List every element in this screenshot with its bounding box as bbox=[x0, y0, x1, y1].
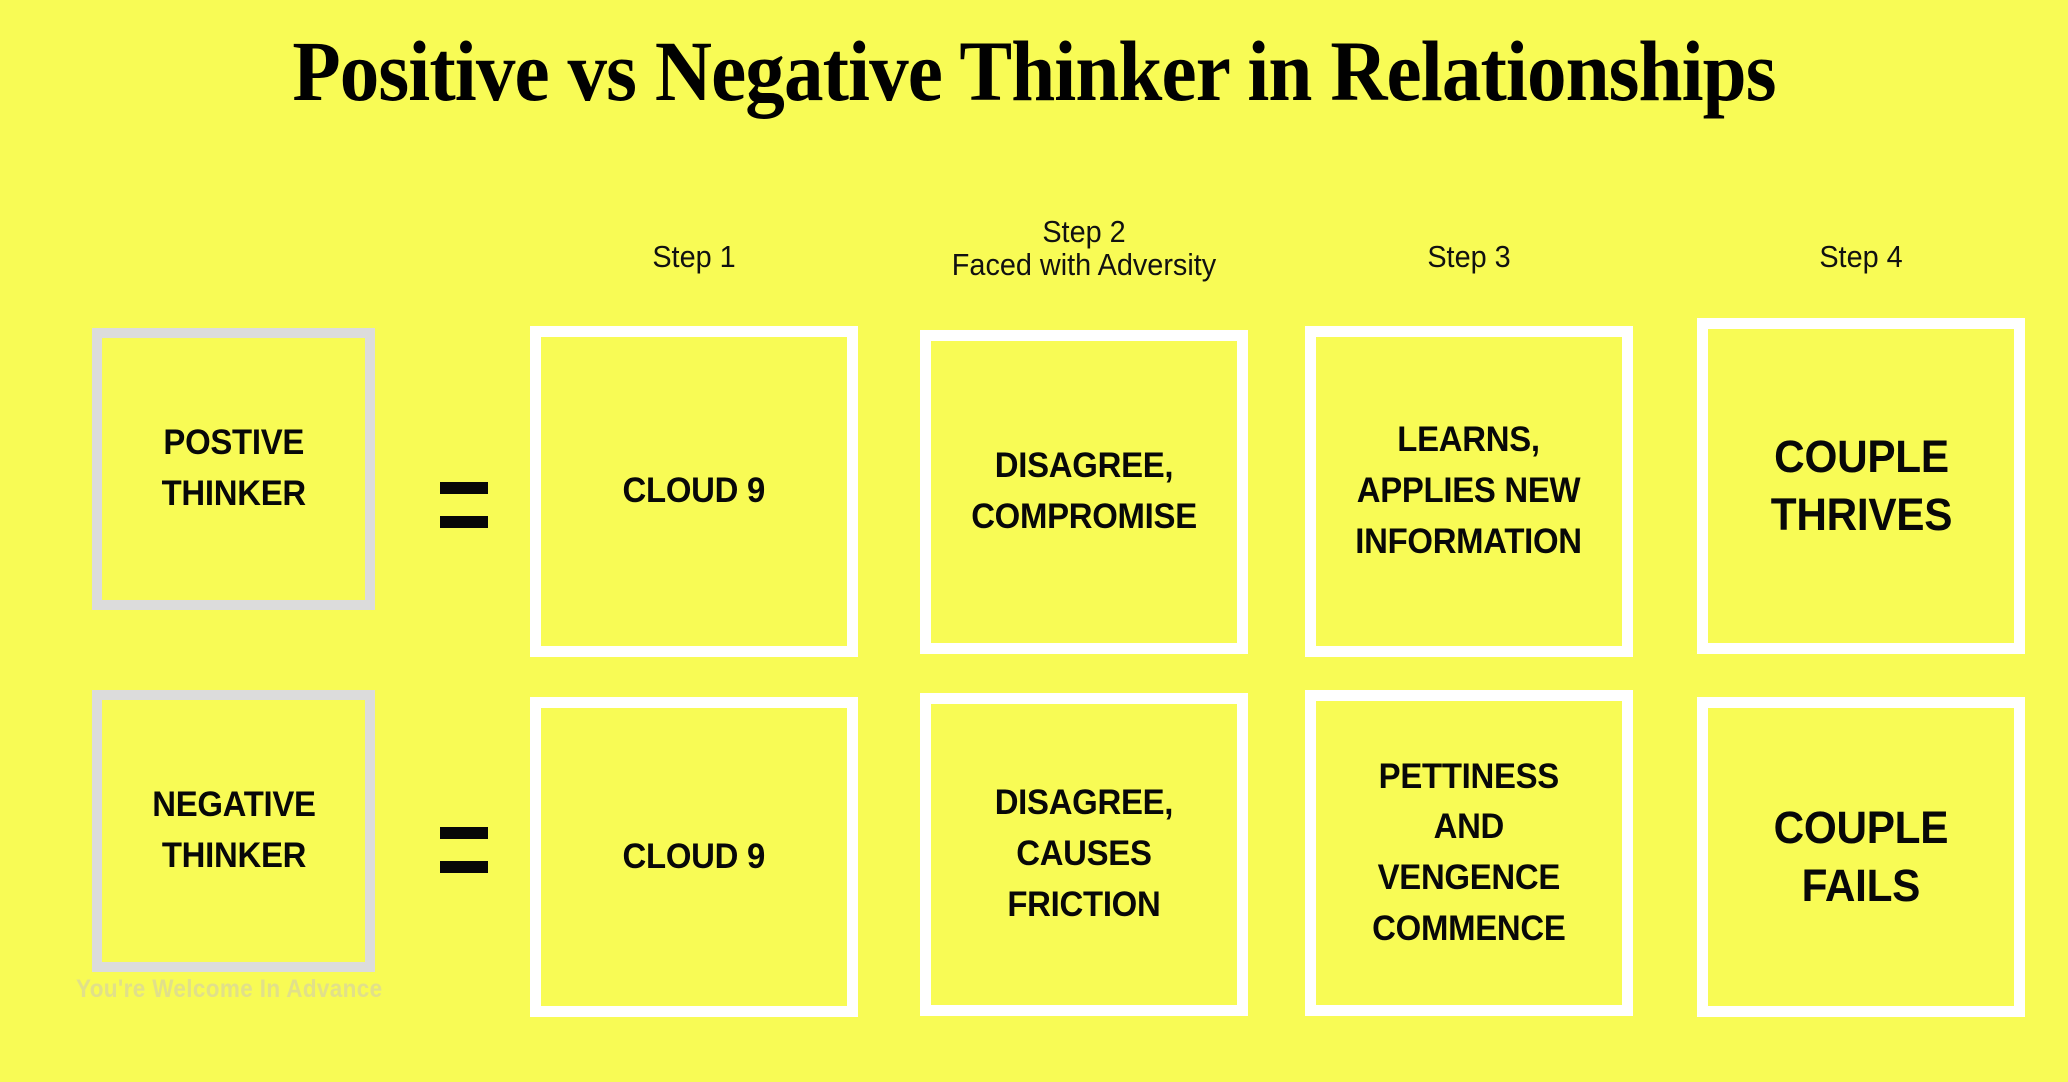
cell-negative-step-3-text: PETTINESSANDVENGENCECOMMENCE bbox=[1367, 752, 1572, 955]
equals-bar-top bbox=[440, 827, 488, 839]
step-header-2-sub: Faced with Adversity bbox=[931, 248, 1236, 281]
cell-positive-step-2: DISAGREE,COMPROMISE bbox=[920, 330, 1248, 654]
equals-icon-positive bbox=[440, 482, 488, 528]
cell-positive-step-4: COUPLETHRIVES bbox=[1697, 318, 2025, 654]
cell-negative-step-2: DISAGREE,CAUSESFRICTION bbox=[920, 693, 1248, 1016]
cell-negative-step-4-text: COUPLEFAILS bbox=[1768, 799, 1954, 916]
step-header-2-label: Step 2 bbox=[1042, 214, 1125, 249]
row-label-box-positive: POSTIVETHINKER bbox=[92, 328, 375, 610]
cell-negative-step-1: CLOUD 9 bbox=[530, 697, 858, 1017]
cell-positive-step-1-text: CLOUD 9 bbox=[617, 466, 771, 517]
equals-bar-bottom bbox=[440, 861, 488, 873]
row-label-box-negative: NEGATIVETHINKER bbox=[92, 690, 375, 972]
row-label-positive: POSTIVETHINKER bbox=[156, 418, 312, 520]
step-header-3: Step 3 bbox=[1316, 240, 1621, 273]
watermark-text: You're Welcome In Advance bbox=[76, 975, 383, 1004]
equals-bar-bottom bbox=[440, 516, 488, 528]
page-title: Positive vs Negative Thinker in Relation… bbox=[83, 26, 1986, 116]
step-header-4-label: Step 4 bbox=[1819, 239, 1902, 274]
cell-positive-step-3: LEARNS,APPLIES NEWINFORMATION bbox=[1305, 326, 1633, 657]
cell-positive-step-1: CLOUD 9 bbox=[530, 326, 858, 657]
equals-icon-negative bbox=[440, 827, 488, 873]
poster-canvas: Positive vs Negative Thinker in Relation… bbox=[0, 0, 2068, 1082]
step-header-3-label: Step 3 bbox=[1427, 239, 1510, 274]
cell-negative-step-3: PETTINESSANDVENGENCECOMMENCE bbox=[1305, 690, 1633, 1016]
cell-positive-step-4-text: COUPLETHRIVES bbox=[1765, 428, 1958, 545]
equals-bar-top bbox=[440, 482, 488, 494]
cell-positive-step-3-text: LEARNS,APPLIES NEWINFORMATION bbox=[1350, 415, 1588, 567]
step-header-2: Step 2 Faced with Adversity bbox=[931, 215, 1236, 282]
step-header-1: Step 1 bbox=[541, 240, 846, 273]
row-label-negative: NEGATIVETHINKER bbox=[146, 780, 321, 882]
cell-positive-step-2-text: DISAGREE,COMPROMISE bbox=[966, 441, 1203, 543]
step-header-1-label: Step 1 bbox=[652, 239, 735, 274]
cell-negative-step-1-text: CLOUD 9 bbox=[617, 832, 771, 883]
cell-negative-step-2-text: DISAGREE,CAUSESFRICTION bbox=[989, 778, 1179, 930]
cell-negative-step-4: COUPLEFAILS bbox=[1697, 697, 2025, 1017]
step-header-4: Step 4 bbox=[1708, 240, 2013, 273]
